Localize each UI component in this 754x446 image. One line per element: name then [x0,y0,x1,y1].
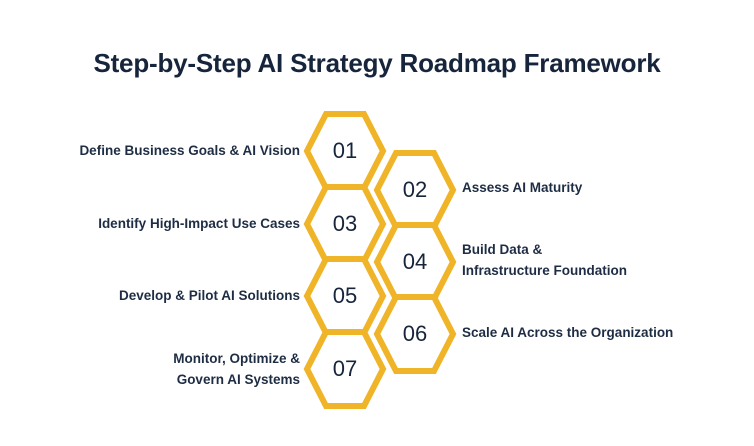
hexagon-number-01: 01 [333,138,357,163]
hexagon-outline-02 [377,153,453,227]
hexagon-number-03: 03 [333,211,357,236]
hexagon-step-03[interactable]: 03 [307,187,383,261]
page-title: Step-by-Step AI Strategy Roadmap Framewo… [0,48,754,79]
hexagon-step-02[interactable]: 02 [377,153,453,227]
hexagon-step-04[interactable]: 04 [377,225,453,299]
hexagon-step-06[interactable]: 06 [377,297,453,371]
hexagon-step-01[interactable]: 01 [307,114,383,188]
step-label-05: Develop & Pilot AI Solutions [119,285,300,306]
hexagon-number-02: 02 [403,177,427,202]
step-label-02: Assess AI Maturity [462,177,582,198]
hexagon-outline-04 [377,225,453,299]
hexagon-outline-05 [307,259,383,333]
step-label-06: Scale AI Across the Organization [462,322,673,343]
step-label-07: Monitor, Optimize & Govern AI Systems [173,348,300,390]
hexagon-number-06: 06 [403,321,427,346]
step-label-04: Build Data & Infrastructure Foundation [462,239,627,281]
hexagon-outline-01 [307,114,383,188]
infographic-canvas: Step-by-Step AI Strategy Roadmap Framewo… [0,0,754,446]
hexagon-number-07: 07 [333,356,357,381]
step-label-03: Identify High-Impact Use Cases [98,213,300,234]
hexagon-outline-03 [307,187,383,261]
hexagon-step-07[interactable]: 07 [307,332,383,406]
hexagon-outline-07 [307,332,383,406]
step-label-01: Define Business Goals & AI Vision [79,140,300,161]
hexagon-step-05[interactable]: 05 [307,259,383,333]
hexagon-number-05: 05 [333,283,357,308]
hexagon-outline-06 [377,297,453,371]
hexagon-number-04: 04 [403,249,427,274]
